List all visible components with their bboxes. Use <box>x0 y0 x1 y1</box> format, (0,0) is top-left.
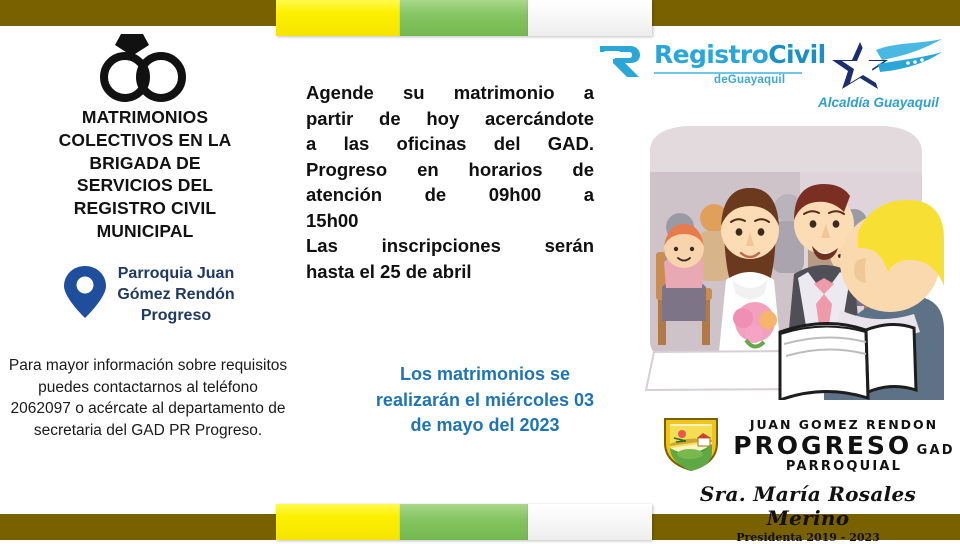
top-green-tab <box>400 0 528 36</box>
body-line: Las inscripciones serán <box>306 233 594 259</box>
bottom-yellow-tab <box>276 504 400 540</box>
title-line: SERVICIOS DEL <box>18 174 272 197</box>
president-signature: Sra. María Rosales Merino <box>660 482 956 530</box>
progreso-coat-of-arms-icon <box>660 414 722 477</box>
page-title: MATRIMONIOS COLECTIVOS EN LA BRIGADA DE … <box>0 106 290 243</box>
registro-civil-subtitle: deGuayaquil <box>714 74 785 86</box>
top-white-tab <box>528 0 652 36</box>
parish-name: Parroquia Juan Gómez Rendón Progreso <box>117 263 234 327</box>
body-line: a las oficinas del GAD. <box>306 131 594 157</box>
registro-civil-logo: RegistroCivil deGuayaquil <box>596 36 804 100</box>
event-date-note: Los matrimonios se realizarán el miércol… <box>338 362 632 439</box>
bottom-green-tab <box>400 504 528 540</box>
bottom-white-tab <box>528 504 652 540</box>
body-line: Agende su matrimonio a <box>306 80 594 106</box>
gad-wordmark: JUAN GOMEZ RENDON PROGRESO GAD PARROQUIA… <box>732 417 956 474</box>
title-line: COLECTIVOS EN LA <box>18 129 272 152</box>
announcement-body: Agende su matrimonio a partir de hoy ace… <box>306 80 594 284</box>
body-line: atención de 09h00 a <box>306 182 594 208</box>
institution-logos: RegistroCivil deGuayaquil Alcaldía Guaya… <box>596 36 960 112</box>
top-yellow-tab <box>276 0 400 36</box>
parish-location: Parroquia Juan Gómez Rendón Progreso <box>0 263 290 327</box>
registro-civil-wordmark: RegistroCivil <box>654 40 826 69</box>
body-line: Progreso en horarios de <box>306 157 594 183</box>
alcaldia-label: Alcaldía Guayaquil <box>818 95 939 110</box>
president-role: Presidenta 2019 - 2023 <box>660 531 956 544</box>
map-pin-icon <box>63 264 107 325</box>
parish-line: Gómez Rendón <box>117 286 234 303</box>
title-line: MUNICIPAL <box>18 220 272 243</box>
event-date-line: realizarán el miércoles 03 <box>338 388 632 414</box>
gad-line-top: JUAN GOMEZ RENDON <box>750 417 938 432</box>
title-line: REGISTRO CIVIL <box>18 197 272 220</box>
event-date-line: de mayo del 2023 <box>338 413 632 439</box>
parish-line: Progreso <box>141 307 211 324</box>
gad-line-mid: PROGRESO <box>733 431 912 460</box>
wedding-ceremony-illustration <box>628 112 944 400</box>
wedding-rings-icon <box>0 30 290 104</box>
title-line: MATRIMONIOS <box>18 106 272 129</box>
parish-line: Parroquia Juan <box>118 265 234 282</box>
body-line: hasta el 25 de abril <box>306 259 594 285</box>
left-column: MATRIMONIOS COLECTIVOS EN LA BRIGADA DE … <box>0 26 290 326</box>
title-line: BRIGADA DE <box>18 152 272 175</box>
contact-info-paragraph: Para mayor información sobre requisitos … <box>6 355 290 442</box>
alcaldia-logo: Alcaldía Guayaquil <box>812 36 952 110</box>
body-line: 15h00 <box>306 208 594 234</box>
gad-footer: JUAN GOMEZ RENDON PROGRESO GAD PARROQUIA… <box>660 414 956 514</box>
body-line: partir de hoy acercándote <box>306 106 594 132</box>
event-date-line: Los matrimonios se <box>338 362 632 388</box>
